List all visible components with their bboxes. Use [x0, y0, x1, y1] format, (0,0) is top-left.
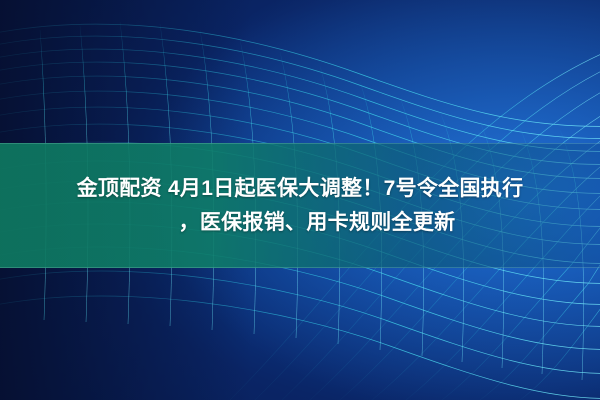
headline-line-1: 金顶配资 4月1日起医保大调整！7号令全国执行 [77, 172, 524, 206]
headline-line-2: ，医保报销、用卡规则全更新 [145, 206, 456, 240]
banner-image: 金顶配资 4月1日起医保大调整！7号令全国执行 ，医保报销、用卡规则全更新 [0, 0, 600, 400]
headline-text-block: 金顶配资 4月1日起医保大调整！7号令全国执行 ，医保报销、用卡规则全更新 [0, 143, 600, 268]
